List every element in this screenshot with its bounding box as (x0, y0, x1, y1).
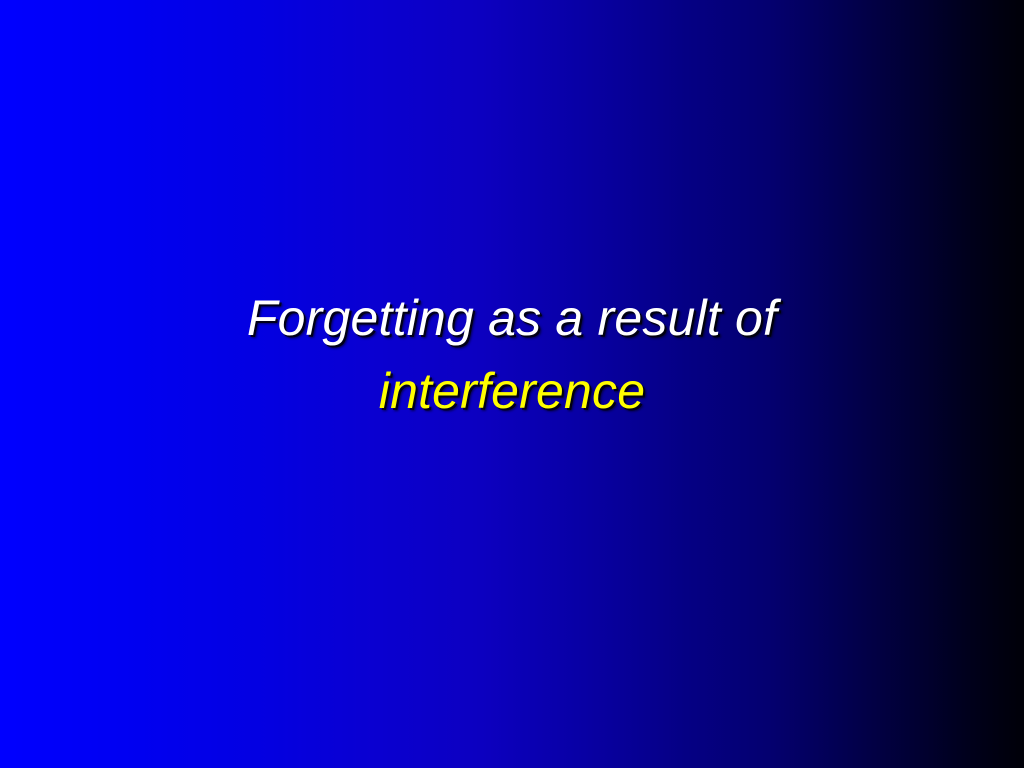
slide-title-line-1: Forgetting as a result of (0, 282, 1024, 355)
slide-title-line-2: interference (0, 355, 1024, 428)
presentation-slide: Forgetting as a result of interference (0, 0, 1024, 768)
slide-title-block: Forgetting as a result of interference (0, 282, 1024, 427)
